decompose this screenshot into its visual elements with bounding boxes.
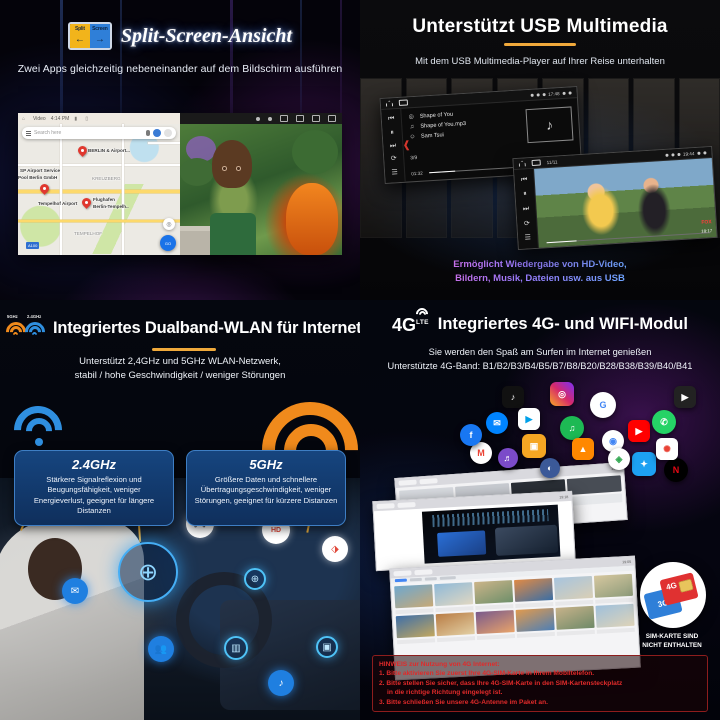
fourg-subtitle-line-1: Sie werden den Spaß am Surfen im Interne… xyxy=(360,346,720,360)
wifi-icon-label-24ghz: 2.4GHz xyxy=(27,314,41,319)
expand-caret-icon[interactable]: ❰ xyxy=(402,139,411,150)
split-icon-left-label: Split xyxy=(70,26,90,32)
wifi-title: Integriertes Dualband-WLAN für Internet xyxy=(53,319,360,338)
band-card-body: Größere Daten und schnellere Übertragung… xyxy=(193,475,339,506)
screenshot-icon[interactable] xyxy=(280,115,288,122)
disc-icon: ◎ xyxy=(408,113,415,120)
home-icon[interactable] xyxy=(386,100,393,106)
usb-header: Unterstützt USB Multimedia Mit dem USB M… xyxy=(360,0,720,67)
menu-icon[interactable] xyxy=(26,131,31,136)
map-status-time: 4:14 PM xyxy=(51,116,70,122)
panel-4g-module: 4GLTE Integriertes 4G- und WIFI-Modul Si… xyxy=(360,300,720,720)
pause-icon[interactable]: ⏸ xyxy=(390,129,394,136)
map-label: TEMPELHOF xyxy=(74,231,102,236)
album-art-placeholder: ♪ xyxy=(526,106,574,143)
battery-icon: ▥ xyxy=(224,636,248,660)
notice-line-3: 3. Bitte schließen Sie unsere 4G-Antenne… xyxy=(379,698,701,707)
panel-split-screen: Split← Screen→ Split-Screen-Ansicht Zwei… xyxy=(0,0,360,300)
wifi-subtitle-line-1: Unterstützt 2,4GHz und 5GHz WLAN-Netzwer… xyxy=(0,355,360,369)
back-icon[interactable] xyxy=(328,115,336,122)
car-icon: ⬗ xyxy=(322,536,348,562)
notice-line-2b: in die richtige Richtung eingelegt ist. xyxy=(379,688,701,697)
bluetooth-icon xyxy=(530,93,533,96)
map-pin[interactable] xyxy=(40,184,49,196)
go-button[interactable]: GO xyxy=(160,235,176,251)
map-canvas[interactable]: Search here BERLIN & Airport... SP Airpo… xyxy=(18,124,180,255)
battery-icon: ▯ xyxy=(85,116,91,122)
usb-caption-line-2: Bildern, Musik, Dateien usw. aus USB xyxy=(360,272,720,286)
messenger-icon: ✉ xyxy=(486,412,508,434)
spotify-icon: ♫ xyxy=(560,416,584,440)
microphone-icon[interactable] xyxy=(146,130,150,136)
fourg-subtitle-line-2: Unterstützte 4G-Band: B1/B2/B3/B4/B5/B7/… xyxy=(360,360,720,374)
map-search-bar[interactable]: Search here xyxy=(22,127,176,139)
usb-title-underline xyxy=(504,43,576,46)
next-icon[interactable]: ⏭ xyxy=(390,142,397,149)
split-screen-subtitle: Zwei Apps gleichzeitig nebeneinander auf… xyxy=(0,63,360,75)
track-number: 3/9 xyxy=(410,155,417,161)
wifi-band-cards: 2.4GHz Stärkere Signalreflexion und Beug… xyxy=(14,450,346,526)
avatar[interactable] xyxy=(153,129,161,137)
gps-icon xyxy=(536,93,539,96)
map-label: KREUZBERG xyxy=(92,176,121,181)
track-elapsed: 01:32 xyxy=(411,171,423,177)
video-player-body[interactable]: ❰ FOX 18:17 xyxy=(534,158,716,248)
camera-app-icon: ▣ xyxy=(522,434,546,458)
video-app-icon: ▶ xyxy=(674,386,696,408)
tiktok-icon: ♪ xyxy=(502,386,524,408)
split-icon-right-label: Screen xyxy=(90,26,110,32)
split-screen-icon: Split← Screen→ xyxy=(68,22,112,50)
track-filename: Shape of You.mp3 xyxy=(420,121,466,130)
maps-icon: ◈ xyxy=(608,448,630,470)
back-icon[interactable] xyxy=(703,151,706,154)
music-app-icon: ♬ xyxy=(498,448,518,468)
video-frame[interactable] xyxy=(180,124,342,255)
list-icon[interactable]: ☰ xyxy=(524,234,531,241)
sim-badge-caption: SIM-KARTE SIND NICHT ENTHALTEN xyxy=(626,632,718,650)
browser-icon: ◐ xyxy=(540,458,560,478)
split-screen-device-preview: ⌂ Video 4:14 PM ▮ ▯ Search here xyxy=(18,113,342,255)
map-label: Tempelhof Airport xyxy=(38,201,77,206)
youtube-icon: ▶ xyxy=(628,420,650,442)
music-icon: ♪ xyxy=(268,670,294,696)
wifi-icon xyxy=(542,93,545,96)
music-status-time: 17:48 xyxy=(548,91,560,97)
app-icon-cloud: ♪ ◎ G ▶ ♫ ◉ ▶ ✆ ✦ N M ◈ ▣ ✉ ✺ ▲ f ♬ ◐ ▶ xyxy=(456,382,686,512)
bluetooth-icon xyxy=(256,117,260,121)
globe-icon: ⊕ xyxy=(118,542,178,602)
fullscreen-icon[interactable] xyxy=(697,151,700,154)
usb-title: Unterstützt USB Multimedia xyxy=(360,16,720,38)
video-file-counter: 11/11 xyxy=(547,159,558,165)
wifi-icon-label-5ghz: 5GHz xyxy=(7,314,18,319)
band-card-5ghz: 5GHz Größere Daten und schnellere Übertr… xyxy=(186,450,346,526)
usb-caption-line-1: Ermöglicht Wiedergabe von HD-Video, xyxy=(360,258,720,272)
map-label: Flughafen xyxy=(93,197,115,202)
signal-icon: ▮ xyxy=(74,116,80,122)
pause-icon[interactable]: ⏸ xyxy=(523,191,527,198)
fourg-notice-box: HINWEIS zur Nutzung von 4G Internet: 1. … xyxy=(372,655,708,712)
map-pin[interactable] xyxy=(78,146,87,158)
sim-card-badge: 3G 4G xyxy=(640,562,706,628)
people-icon: 👥 xyxy=(148,636,174,662)
recent-apps-icon[interactable] xyxy=(312,115,320,122)
map-label: Pool Berlin GmbH xyxy=(18,175,57,180)
vlc-icon: ▲ xyxy=(572,438,594,460)
home-icon[interactable] xyxy=(519,160,526,166)
photos-icon: ✺ xyxy=(656,438,678,460)
video-status-time: 19:44 xyxy=(683,151,695,157)
split-screen-header: Split← Screen→ Split-Screen-Ansicht Zwei… xyxy=(0,0,360,75)
home-icon: ⌂ xyxy=(22,116,28,122)
wifi-icon xyxy=(677,152,680,155)
map-app-half: ⌂ Video 4:14 PM ▮ ▯ Search here xyxy=(18,113,180,255)
gps-icon xyxy=(671,153,674,156)
map-status-app-label: Video xyxy=(33,116,46,122)
wifi-subtitle: Unterstützt 2,4GHz und 5GHz WLAN-Netzwer… xyxy=(0,355,360,383)
panel-usb-multimedia: Unterstützt USB Multimedia Mit dem USB M… xyxy=(360,0,720,300)
signal-arcs-icon xyxy=(416,306,430,316)
mail-icon: ✉ xyxy=(62,578,88,604)
google-icon: G xyxy=(590,392,616,418)
repeat-icon[interactable]: ⟳ xyxy=(524,220,530,227)
wifi-title-underline xyxy=(152,348,216,351)
video-app-half xyxy=(180,113,342,255)
usb-subtitle: Mit dem USB Multimedia-Player auf Ihrer … xyxy=(360,56,720,67)
map-label: Berlin-Tempelh.. xyxy=(93,204,129,209)
previous-icon[interactable]: ⏮ xyxy=(521,176,528,183)
sim-card-4g-label: 4G xyxy=(665,581,678,592)
notice-line-2: 2. Bitte stellen Sie sicher, dass Ihre 4… xyxy=(379,679,701,688)
4g-logo-text: 4G xyxy=(392,315,416,335)
instagram-icon: ◎ xyxy=(550,382,574,406)
fourg-subtitle: Sie werden den Spaß am Surfen im Interne… xyxy=(360,346,720,373)
track-title: Shape of You xyxy=(420,111,454,119)
notice-line-1: 1. Bitte aktivieren Sie zuerst Ihre 4G-S… xyxy=(379,669,701,678)
image-result-grid xyxy=(391,571,638,648)
wifi-subtitle-line-2: stabil / hohe Geschwindigkeit / weniger … xyxy=(0,369,360,383)
split-icon[interactable] xyxy=(296,115,304,122)
panel-dualband-wifi: 5GHz 2.4GHz Integriertes Dualband-WLAN f… xyxy=(0,300,360,720)
facebook-icon: f xyxy=(460,424,482,446)
recent-apps-icon[interactable] xyxy=(562,91,565,94)
track-artist: Sam Tsui xyxy=(421,132,444,139)
note-icon: ♫ xyxy=(408,124,415,130)
sim-card-4g: 4G xyxy=(659,572,698,605)
band-card-body: Stärkere Signalreflexion und Beugungsfäh… xyxy=(21,475,167,517)
notice-heading: HINWEIS zur Nutzung von 4G Internet: xyxy=(379,660,701,669)
fourg-title: Integriertes 4G- und WIFI-Modul xyxy=(438,315,688,334)
map-label: BERLIN & Airport... xyxy=(88,148,130,153)
screen-icon: ▣ xyxy=(316,636,338,658)
product-feature-sheet: Split← Screen→ Split-Screen-Ansicht Zwei… xyxy=(0,0,720,720)
map-status-bar: ⌂ Video 4:14 PM ▮ ▯ xyxy=(18,113,180,124)
list-icon[interactable]: ☰ xyxy=(391,169,398,176)
broadcast-logo: FOX xyxy=(701,219,712,226)
camera-icon[interactable] xyxy=(532,159,541,166)
map-pin[interactable] xyxy=(82,198,91,210)
bluetooth-icon xyxy=(665,153,668,156)
video-player-screenshot: 11/11 19:44 ⏮ ⏸ ⏭ ⟳ ☰ xyxy=(512,146,717,250)
repeat-icon[interactable]: ⟳ xyxy=(391,156,397,163)
sim-caption-line-2: NICHT ENTHALTEN xyxy=(626,641,718,650)
band-card-heading: 2.4GHz xyxy=(21,457,167,472)
split-screen-title: Split-Screen-Ansicht xyxy=(121,25,292,48)
usb-caption: Ermöglicht Wiedergabe von HD-Video, Bild… xyxy=(360,258,720,286)
previous-icon[interactable]: ⏮ xyxy=(388,115,395,122)
play-store-icon: ▶ xyxy=(518,408,540,430)
fourg-header: 4GLTE Integriertes 4G- und WIFI-Modul xyxy=(360,300,720,334)
band-card-heading: 5GHz xyxy=(193,457,339,472)
twitter-icon: ✦ xyxy=(632,452,656,476)
sim-caption-line-1: SIM-KARTE SIND xyxy=(626,632,718,641)
4g-lte-logo-icon: 4GLTE xyxy=(392,314,429,334)
map-label: SP Airport Service xyxy=(20,168,60,173)
wifi-header: 5GHz 2.4GHz Integriertes Dualband-WLAN f… xyxy=(0,300,360,342)
compass-icon[interactable]: ◎ xyxy=(163,218,175,230)
whatsapp-icon: ✆ xyxy=(652,410,676,434)
sim-chip-icon xyxy=(678,579,693,593)
wifi-node-icon: ⊕ xyxy=(244,568,266,590)
map-search-placeholder: Search here xyxy=(34,130,61,136)
netflix-icon: N xyxy=(664,458,688,482)
band-card-24ghz: 2.4GHz Stärkere Signalreflexion und Beug… xyxy=(14,450,174,526)
back-icon[interactable] xyxy=(568,91,571,94)
route-badge: A100 xyxy=(26,242,39,249)
android-nav-bar xyxy=(180,113,342,124)
camera-icon[interactable] xyxy=(399,99,408,106)
layers-icon[interactable] xyxy=(164,129,172,137)
dualband-wifi-icon: 5GHz 2.4GHz xyxy=(6,314,46,342)
next-icon[interactable]: ⏭ xyxy=(523,205,530,212)
wifi-icon xyxy=(268,117,272,121)
